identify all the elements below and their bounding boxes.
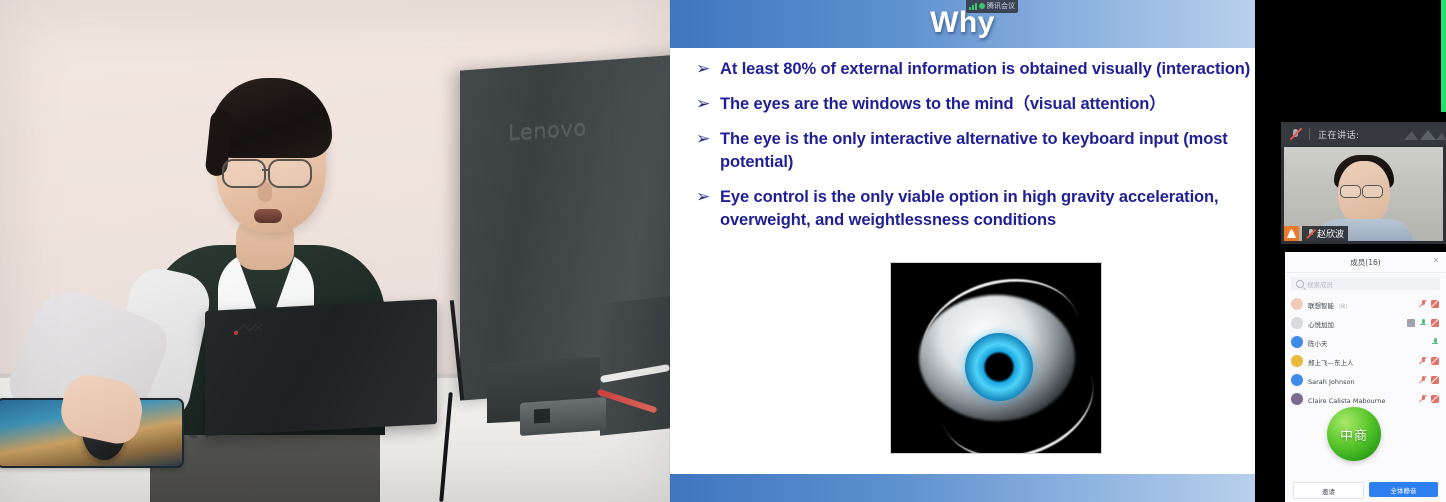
organization-logo-text: 中商 (1340, 425, 1368, 444)
list-item: ➢ The eye is the only interactive altern… (696, 128, 1255, 174)
invite-button[interactable]: 邀请 (1293, 482, 1364, 499)
thinkpad-logo-glyph (232, 321, 274, 337)
speaker-glasses-right (1362, 185, 1383, 198)
audio-waveform-icon (1402, 128, 1446, 141)
participant-name-block: 郑上飞—东上人 (1308, 352, 1414, 370)
participant-name-block: Sarah Johnson (1308, 371, 1414, 389)
usb-dock (520, 397, 606, 436)
participant-status-icons (1407, 319, 1439, 327)
speaker-glasses-left (1340, 185, 1361, 198)
list-item[interactable]: Sarah Johnson (1285, 370, 1446, 389)
speaker-name-chip: 赵欣波 (1302, 226, 1348, 241)
speaker-name-overlay: 赵欣波 (1284, 226, 1348, 241)
participant-name: Claire Calista Mabourne (1308, 397, 1385, 405)
mic-off-icon[interactable] (1419, 395, 1427, 403)
bullet-text: At least 80% of external information is … (720, 58, 1250, 81)
speaker-thumbnail-header: 正在讲话: (1281, 122, 1446, 146)
presenter-webcam-feed[interactable]: Lenovo (0, 0, 670, 502)
participant-status-icons (1431, 338, 1439, 346)
camera-off-icon[interactable] (1431, 395, 1439, 403)
camera-off-icon[interactable] (1431, 357, 1439, 365)
participant-name-block: 心悦加加 (1308, 314, 1402, 332)
search-input[interactable]: 搜索成员 (1291, 277, 1440, 290)
avatar (1291, 317, 1303, 329)
list-item[interactable]: 联想智能 (我) (1285, 294, 1446, 313)
participants-panel[interactable]: 成员(16) ✕ 搜索成员 联想智能 (我) (1285, 252, 1446, 502)
avatar (1291, 336, 1303, 348)
participant-name-block: Claire Calista Mabourne (1308, 390, 1414, 408)
slide-footer-band (670, 474, 1255, 502)
participants-panel-title: 成员(16) (1350, 257, 1380, 268)
avatar (1291, 393, 1303, 405)
mic-off-icon[interactable] (1419, 357, 1427, 365)
thinkpad-laptop (205, 299, 437, 436)
mute-all-button[interactable]: 全体静音 (1369, 482, 1438, 497)
shared-slide[interactable]: 腾讯会议 Why ➢ At least 80% of external info… (670, 0, 1255, 502)
avatar (1291, 355, 1303, 367)
bullet-text: The eye is the only interactive alternat… (720, 128, 1255, 174)
list-item: ➢ The eyes are the windows to the mind（v… (696, 93, 1255, 116)
user-avatar-icon (1284, 226, 1299, 241)
mic-on-icon[interactable] (1419, 319, 1427, 327)
participant-name: 陈小天 (1308, 340, 1328, 348)
participant-status-icons (1419, 376, 1439, 384)
participant-status-icons (1419, 395, 1439, 403)
mic-muted-icon (1306, 229, 1315, 238)
active-speaker-thumbnail[interactable]: 正在讲话: 赵欣波 (1281, 122, 1446, 244)
list-item[interactable]: 陈小天 (1285, 332, 1446, 351)
participant-name: Sarah Johnson (1308, 378, 1355, 386)
participant-status-icons (1419, 300, 1439, 308)
bullet-arrow-icon: ➢ (696, 93, 720, 116)
eye-graphic-image (890, 262, 1102, 454)
participant-status-icons (1419, 357, 1439, 365)
ethernet-port (534, 408, 550, 423)
speaking-status-label: 正在讲话: (1318, 128, 1360, 141)
camera-off-icon[interactable] (1431, 319, 1439, 327)
camera-off-icon[interactable] (1431, 376, 1439, 384)
speaker-name: 赵欣波 (1317, 227, 1344, 240)
divider (1309, 128, 1310, 140)
list-item: ➢ Eye control is the only viable option … (696, 186, 1255, 232)
bullet-arrow-icon: ➢ (696, 128, 720, 151)
participant-name: 郑上飞—东上人 (1308, 359, 1354, 367)
list-item: ➢ At least 80% of external information i… (696, 58, 1255, 81)
presenter-nose (258, 182, 272, 202)
presenter-mouth (254, 209, 282, 223)
participants-panel-header: 成员(16) ✕ (1285, 252, 1446, 273)
bullet-text: The eyes are the windows to the mind（vis… (720, 93, 1166, 116)
list-item[interactable]: 心悦加加 (1285, 313, 1446, 332)
mic-off-icon[interactable] (1419, 376, 1427, 384)
screen-share-icon[interactable] (1407, 319, 1415, 327)
microphone-muted-icon (1289, 128, 1301, 140)
bullet-text: Eye control is the only viable option in… (720, 186, 1255, 232)
list-item[interactable]: 郑上飞—东上人 (1285, 351, 1446, 370)
list-item[interactable]: Claire Calista Mabourne (1285, 389, 1446, 408)
search-icon (1296, 280, 1304, 288)
close-icon[interactable]: ✕ (1432, 257, 1440, 265)
mic-on-icon[interactable] (1431, 338, 1439, 346)
thinkpad-logo (232, 321, 274, 337)
screen-share-border-top (1441, 0, 1446, 112)
bullet-arrow-icon: ➢ (696, 186, 720, 209)
camera-off-icon[interactable] (1431, 300, 1439, 308)
participant-name-block: 陈小天 (1308, 333, 1426, 351)
slide-bullet-list: ➢ At least 80% of external information i… (696, 58, 1255, 244)
slide-title: Why (670, 6, 1255, 40)
mic-off-icon[interactable] (1419, 300, 1427, 308)
meeting-screen-share-window: Lenovo (0, 0, 1446, 502)
participants-panel-footer: 邀请 全体静音 (1285, 482, 1446, 499)
eyeglasses-right-lens (268, 159, 312, 188)
avatar (1291, 298, 1303, 310)
organization-logo: 中商 (1327, 407, 1381, 461)
avatar (1291, 374, 1303, 386)
participant-sublabel: (我) (1338, 304, 1347, 310)
participant-name: 联想智能 (1308, 302, 1334, 310)
search-placeholder: 搜索成员 (1307, 279, 1333, 289)
bullet-arrow-icon: ➢ (696, 58, 720, 81)
participant-name-block: 联想智能 (我) (1308, 295, 1414, 313)
participants-list: 联想智能 (我) 心悦加加 (1285, 293, 1446, 409)
eyeglasses-bridge (262, 169, 270, 171)
participant-name: 心悦加加 (1308, 321, 1334, 329)
